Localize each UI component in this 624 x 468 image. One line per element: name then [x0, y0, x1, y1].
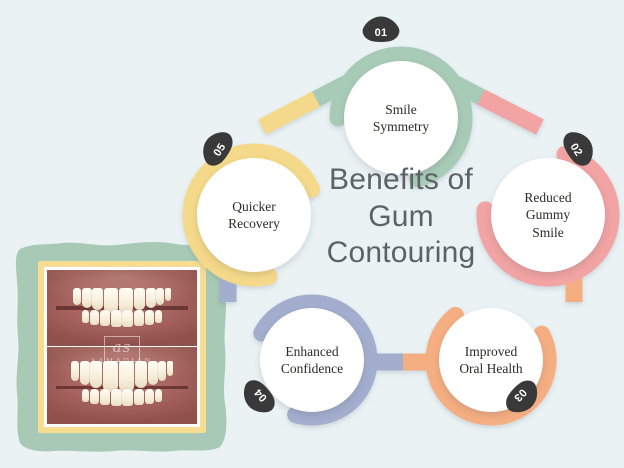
photo-inner-border: as SAMADIAN — [44, 267, 200, 427]
title-line-2: Gum — [290, 199, 512, 236]
title-line-1: Benefits of — [290, 162, 512, 199]
page-title: Benefits of Gum Contouring — [290, 162, 512, 272]
node-label-02-line3: Smile — [524, 224, 571, 241]
clinical-photo: as SAMADIAN — [47, 270, 197, 424]
node-circle-01[interactable]: Smile Symmetry — [344, 61, 458, 175]
node-label-04-line1: Enhanced — [281, 343, 343, 360]
node-label-04-line2: Confidence — [281, 360, 343, 377]
node-label-05-line2: Recovery — [228, 215, 280, 232]
infographic-canvas: as SAMADIAN — [0, 0, 624, 468]
node-label-05-line1: Quicker — [228, 198, 280, 215]
node-number-01: 01 — [361, 15, 401, 51]
node-badge-01: 01 — [361, 15, 401, 51]
benefits-wheel: Smile Symmetry 01 Reduced Gummy Smile 02… — [178, 10, 624, 450]
watermark-box — [104, 336, 140, 362]
node-label-02-line2: Gummy — [524, 206, 571, 223]
node-label-01-line1: Smile — [373, 101, 429, 118]
node-label-02-line1: Reduced — [524, 189, 571, 206]
node-label-01-line2: Symmetry — [373, 118, 429, 135]
node-label-03-line1: Improved — [459, 343, 522, 360]
title-line-3: Contouring — [290, 235, 512, 272]
